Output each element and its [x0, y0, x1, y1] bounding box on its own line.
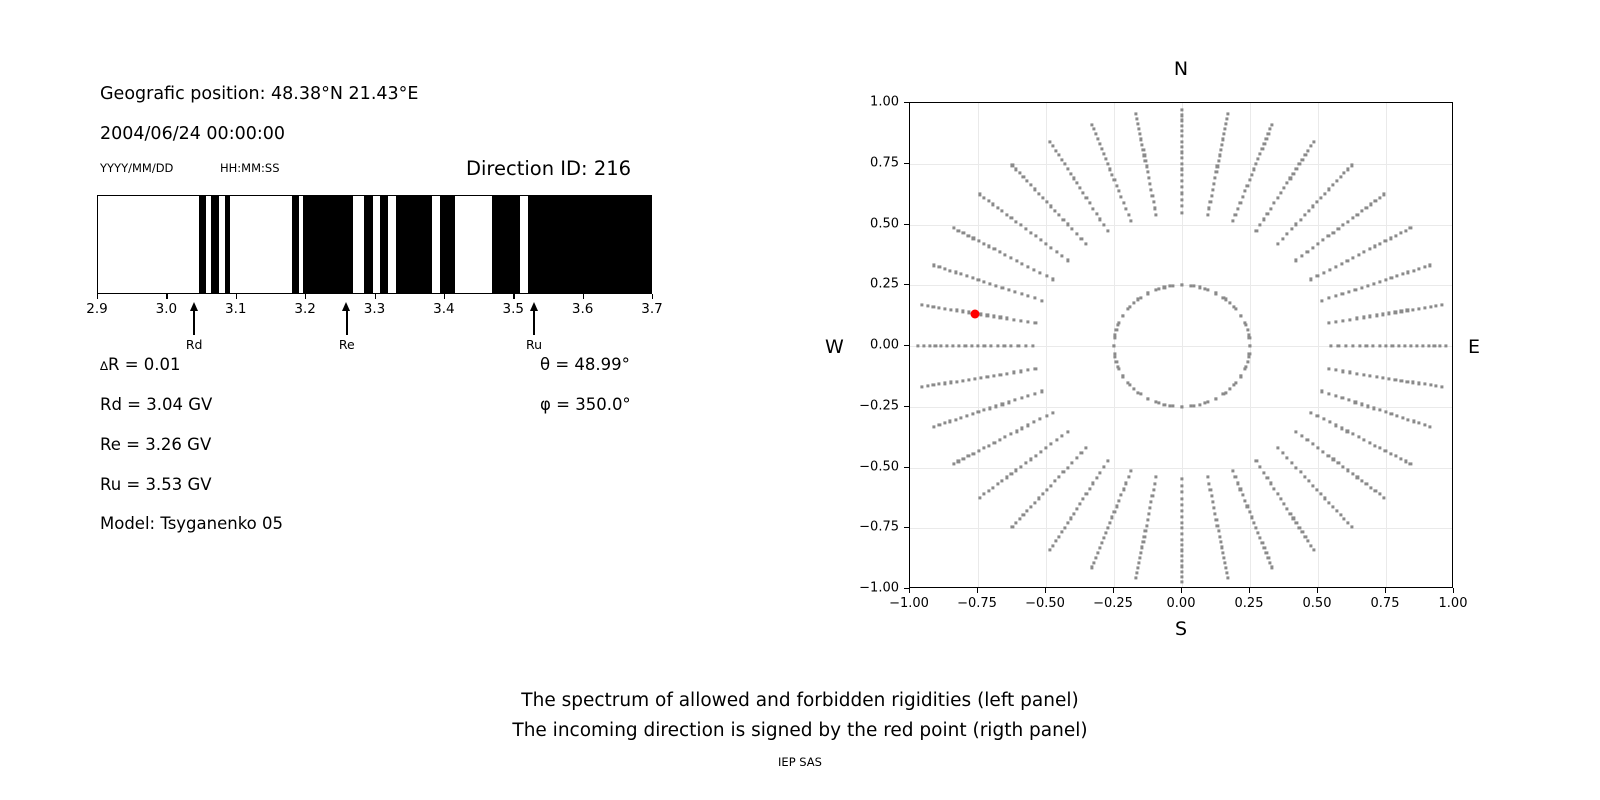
scatter-dot: [1334, 394, 1337, 397]
scatter-dot: [1045, 488, 1048, 491]
scatter-dot: [1265, 137, 1268, 140]
forbidden-band: [380, 196, 388, 293]
scatter-dot: [965, 414, 968, 417]
scatter-dot: [1180, 521, 1183, 524]
scatter-dot: [1009, 256, 1012, 259]
scatter-dot: [1226, 112, 1229, 115]
scatter-dot: [1350, 525, 1353, 528]
scatter-dot: [1346, 220, 1349, 223]
scatter-dot: [1228, 387, 1231, 390]
scatter-dot: [1327, 454, 1330, 457]
scatter-dot: [932, 305, 935, 308]
scatter-dot: [926, 384, 929, 387]
scatter-dot: [1307, 540, 1310, 543]
scatter-dot: [1018, 517, 1021, 520]
scatter-dot: [1180, 145, 1183, 148]
scatter-dot: [1004, 436, 1007, 439]
scatter-dot: [1327, 321, 1330, 324]
scatter-dot: [1400, 379, 1403, 382]
scatter-dot: [1246, 184, 1249, 187]
scatter-dot: [1005, 476, 1008, 479]
scatter-dot: [1061, 255, 1064, 258]
scatter-dot: [938, 306, 941, 309]
scatter-dot: [1012, 371, 1015, 374]
scatter-dot: [1102, 465, 1105, 468]
scatter-dot: [943, 422, 946, 425]
scatter-dot: [1236, 207, 1239, 210]
scatter-dot: [1363, 438, 1366, 441]
scatter-dot: [1113, 510, 1116, 513]
scatter-dot: [1334, 294, 1337, 297]
marker-label: Ru: [526, 337, 542, 352]
scatter-dot: [971, 412, 974, 415]
scatter-dot: [1022, 176, 1025, 179]
scatter-dot: [1005, 317, 1008, 320]
scatter-dot: [1412, 269, 1415, 272]
caption-line-1: The spectrum of allowed and forbidden ri…: [0, 686, 1600, 716]
scatter-dot: [1066, 466, 1069, 469]
y-axis-tick: [904, 406, 909, 407]
scatter-dot: [1147, 513, 1150, 516]
scatter-dot: [1198, 403, 1201, 406]
scatter-dot: [1142, 148, 1145, 151]
scatter-dot: [1180, 565, 1183, 568]
scatter-dot: [1129, 219, 1132, 222]
scatter-dot: [1239, 314, 1242, 317]
scatter-dot: [1085, 492, 1088, 495]
scatter-dot: [1049, 484, 1052, 487]
scatter-dot: [1027, 394, 1030, 397]
scatter-dot: [1010, 344, 1013, 347]
scatter-dot: [1423, 423, 1426, 426]
scatter-dot: [1219, 540, 1222, 543]
scatter-dot: [1320, 196, 1323, 199]
forbidden-band: [199, 196, 206, 293]
scatter-dot: [1290, 228, 1293, 231]
scatter-dot: [1072, 512, 1075, 515]
scatter-dot: [1403, 344, 1406, 347]
scatter-dot: [1322, 271, 1325, 274]
scatter-dot: [1394, 311, 1397, 314]
scatter-dot: [1362, 373, 1365, 376]
incoming-direction-point: [971, 310, 980, 319]
scatter-dot: [992, 315, 995, 318]
scatter-dot: [1294, 430, 1297, 433]
datetime-label: 2004/06/24 00:00:00: [100, 124, 285, 144]
scatter-dot: [1139, 133, 1142, 136]
scatter-dot: [1216, 524, 1219, 527]
scatter-dot: [1120, 494, 1123, 497]
y-axis-tick: [904, 527, 909, 528]
scatter-dot: [1372, 282, 1375, 285]
scatter-dot: [1108, 521, 1111, 524]
scatter-dot: [1384, 239, 1387, 242]
scatter-dot: [1106, 229, 1109, 232]
rigidity-spectrum-panel: Geografic position: 48.38°N 21.43°E 2004…: [0, 0, 700, 660]
scatter-dot: [1132, 301, 1135, 304]
scatter-dot: [1365, 483, 1368, 486]
scatter-dot: [1015, 259, 1018, 262]
scatter-dot: [1355, 317, 1358, 320]
scatter-dot: [1440, 385, 1443, 388]
scatter-dot: [1096, 551, 1099, 554]
scatter-dot: [1317, 446, 1320, 449]
scatter-dot: [1239, 375, 1242, 378]
scatter-dot: [1221, 138, 1224, 141]
scatter-dot: [1155, 213, 1158, 216]
scatter-dot: [1050, 246, 1053, 249]
scatter-dot: [1014, 220, 1017, 223]
scatter-dot: [1143, 535, 1146, 538]
scatter-dot: [1034, 368, 1037, 371]
scatter-dot: [1211, 188, 1214, 191]
scatter-dot: [1180, 129, 1183, 132]
scatter-dot: [1409, 227, 1412, 230]
scatter-dot: [1307, 480, 1310, 483]
forbidden-band: [303, 196, 353, 293]
scatter-dot: [922, 344, 925, 347]
scatter-dot: [1157, 401, 1160, 404]
scatter-dot: [1020, 397, 1023, 400]
scatter-dot: [1404, 460, 1407, 463]
x-axis-tick-label: 0.75: [1371, 596, 1400, 611]
scatter-dot: [1299, 218, 1302, 221]
scatter-dot: [1180, 515, 1183, 518]
scatter-dot: [1316, 488, 1319, 491]
x-axis-tick: [1181, 588, 1182, 593]
rd-value: Rd = 3.04 GV: [100, 395, 212, 414]
scatter-dot: [1255, 229, 1258, 232]
scatter-dot: [1360, 403, 1363, 406]
scatter-dot: [1342, 465, 1345, 468]
scatter-dot: [1282, 187, 1285, 190]
scatter-dot: [928, 344, 931, 347]
scatter-dot: [1154, 401, 1157, 404]
scatter-dot: [1339, 176, 1342, 179]
scatter-dot: [1276, 242, 1279, 245]
scatter-dot: [1113, 178, 1116, 181]
scatter-dot: [1236, 482, 1239, 485]
scatter-dot: [1378, 344, 1381, 347]
scatter-dot: [917, 344, 920, 347]
scatter-dot: [1095, 212, 1098, 215]
scatter-dot: [1224, 122, 1227, 125]
x-axis-tick-label: 1.00: [1439, 596, 1468, 611]
scatter-dot: [1407, 418, 1410, 421]
scatter-dot: [1180, 140, 1183, 143]
scatter-dot: [955, 309, 958, 312]
scatter-dot: [1180, 405, 1183, 408]
scatter-dot: [1324, 497, 1327, 500]
scatter-dot: [1281, 237, 1284, 240]
scatter-dot: [1212, 182, 1215, 185]
scatter-dot: [1135, 112, 1138, 115]
scatter-dot: [1189, 284, 1192, 287]
scatter-dot: [1066, 167, 1069, 170]
scatter-dot: [971, 276, 974, 279]
scatter-dot: [1104, 157, 1107, 160]
scatter-dot: [1334, 320, 1337, 323]
scatter-dot: [1031, 344, 1034, 347]
scatter-dot: [1113, 352, 1116, 355]
scatter-dot: [1209, 200, 1212, 203]
scatter-dot: [1057, 535, 1060, 538]
scatter-dot: [1146, 292, 1149, 295]
scatter-dot: [1255, 163, 1258, 166]
scatter-dot: [1071, 461, 1074, 464]
scatter-dot: [1208, 482, 1211, 485]
scatter-dot: [1289, 512, 1292, 515]
scatter-dot: [1111, 516, 1114, 519]
scatter-dot: [1435, 384, 1438, 387]
scatter-dot: [1394, 234, 1397, 237]
x-axis-tick-label: −0.75: [957, 596, 997, 611]
scatter-dot: [1342, 319, 1345, 322]
x-axis-tick: [977, 588, 978, 593]
scatter-dot: [1320, 390, 1323, 393]
scatter-dot: [983, 344, 986, 347]
scatter-dot: [1208, 207, 1211, 210]
scatter-dot: [1122, 375, 1125, 378]
scatter-dot: [1418, 307, 1421, 310]
scatter-dot: [1265, 551, 1268, 554]
scatter-dot: [1163, 403, 1166, 406]
scatter-dot: [1341, 397, 1344, 400]
scatter-dot: [977, 411, 980, 414]
scatter-dot: [1118, 321, 1121, 324]
scatter-dot: [1033, 268, 1036, 271]
scatter-dot: [1412, 420, 1415, 423]
scatter-dot: [1395, 414, 1398, 417]
scatter-dot: [1053, 209, 1056, 212]
scatter-dot: [1332, 231, 1335, 234]
scatter-dot: [1428, 264, 1431, 267]
scatter-dot: [1001, 286, 1004, 289]
scatter-dot: [1007, 401, 1010, 404]
scatter-dot: [1384, 411, 1387, 414]
scatter-dot: [1292, 172, 1295, 175]
scatter-dot: [1366, 284, 1369, 287]
theta-value: θ = 48.99°: [540, 355, 630, 374]
scatter-dot: [1180, 192, 1183, 195]
scatter-dot: [1374, 489, 1377, 492]
scatter-dot: [1246, 329, 1249, 332]
scatter-dot: [1381, 313, 1384, 316]
scatter-dot: [932, 384, 935, 387]
scatter-dot: [1234, 381, 1237, 384]
scatter-dot: [1218, 535, 1221, 538]
scatter-dot: [1108, 168, 1111, 171]
forbidden-band: [364, 196, 373, 293]
scatter-dot: [1180, 186, 1183, 189]
scatter-dot: [1248, 178, 1251, 181]
scatter-dot: [1100, 147, 1103, 150]
scatter-dot: [982, 242, 985, 245]
scatter-dot: [1026, 509, 1029, 512]
scatter-dot: [1362, 316, 1365, 319]
x-axis-tick-label: −0.50: [1025, 596, 1065, 611]
scatter-dot: [986, 314, 989, 317]
scatter-dot: [1433, 344, 1436, 347]
gridline-vertical: [1318, 103, 1319, 587]
scatter-dot: [1019, 319, 1022, 322]
scatter-dot: [1418, 382, 1421, 385]
scatter-dot: [1222, 556, 1225, 559]
scatter-dot: [1082, 497, 1085, 500]
scatter-dot: [1263, 547, 1266, 550]
scatter-dot: [1066, 430, 1069, 433]
scatter-dot: [1115, 360, 1118, 363]
scatter-dot: [1428, 425, 1431, 428]
scatter-dot: [1346, 469, 1349, 472]
scatter-dot: [1384, 449, 1387, 452]
scatter-dot: [993, 441, 996, 444]
scatter-dot: [1019, 224, 1022, 227]
scatter-dot: [1269, 128, 1272, 131]
scatter-dot: [1298, 163, 1301, 166]
y-axis-tick-label: −1.00: [843, 581, 899, 596]
scatter-dot: [1412, 381, 1415, 384]
scatter-dot: [1122, 488, 1125, 491]
scatter-dot: [1090, 123, 1093, 126]
scatter-dot: [1412, 308, 1415, 311]
scatter-dot: [1346, 259, 1349, 262]
scatter-dot: [1180, 549, 1183, 552]
scatter-dot: [1418, 267, 1421, 270]
scatter-dot: [1115, 505, 1118, 508]
scatter-dot: [943, 267, 946, 270]
scatter-dot: [1365, 344, 1368, 347]
scatter-dot: [961, 310, 964, 313]
forbidden-band: [396, 196, 431, 293]
scatter-dot: [986, 375, 989, 378]
scatter-dot: [1180, 114, 1183, 117]
scatter-dot: [949, 308, 952, 311]
scatter-dot: [1148, 507, 1151, 510]
scatter-dot: [1155, 475, 1158, 478]
scatter-dot: [1117, 190, 1120, 193]
scatter-dot: [1248, 336, 1251, 339]
scatter-dot: [1005, 213, 1008, 216]
scatter-dot: [1122, 314, 1125, 317]
scatter-dot: [1212, 507, 1215, 510]
scatter-dot: [1024, 344, 1027, 347]
scatter-dot: [1136, 117, 1139, 120]
scatter-dot: [1007, 288, 1010, 291]
scatter-dot: [1018, 172, 1021, 175]
scatter-dot: [1075, 456, 1078, 459]
scatter-dot: [1206, 288, 1209, 291]
scatter-dot: [1085, 242, 1088, 245]
scatter-dot: [1180, 560, 1183, 563]
axis-tick: [652, 294, 653, 299]
scatter-dot: [1351, 216, 1354, 219]
scatter-dot: [1241, 494, 1244, 497]
scatter-dot: [960, 416, 963, 419]
scatter-dot: [1327, 368, 1330, 371]
scatter-dot: [1054, 149, 1057, 152]
scatter-dot: [1399, 232, 1402, 235]
scatter-dot: [1429, 305, 1432, 308]
scatter-dot: [1041, 196, 1044, 199]
scatter-dot: [1276, 446, 1279, 449]
forbidden-band: [225, 196, 230, 293]
scatter-dot: [1248, 344, 1251, 347]
scatter-dot: [977, 278, 980, 281]
scatter-dot: [1295, 223, 1298, 226]
scatter-dot: [1365, 206, 1368, 209]
scatter-dot: [962, 457, 965, 460]
scatter-dot: [955, 380, 958, 383]
marker-label: Re: [339, 337, 355, 352]
scatter-dot: [977, 239, 980, 242]
scatter-dot: [978, 496, 981, 499]
scatter-dot: [1051, 145, 1054, 148]
x-axis-tick-label: 0.00: [1167, 596, 1196, 611]
scatter-dot: [1080, 451, 1083, 454]
scatter-dot: [1334, 265, 1337, 268]
scatter-dot: [1243, 499, 1246, 502]
scatter-dot: [1090, 566, 1093, 569]
scatter-dot: [1246, 505, 1249, 508]
scatter-dot: [1044, 446, 1047, 449]
scatter-dot: [1082, 191, 1085, 194]
axis-tick-label: 3.4: [433, 301, 454, 317]
scatter-dot: [995, 284, 998, 287]
scatter-dot: [1266, 477, 1269, 480]
axis-tick: [97, 294, 98, 299]
scatter-dot: [1132, 387, 1135, 390]
scatter-dot: [1211, 501, 1214, 504]
scatter-dot: [1290, 461, 1293, 464]
scatter-dot: [1075, 507, 1078, 510]
geographic-position-label: Geografic position: 48.38°N 21.43°E: [100, 84, 418, 104]
scatter-dot: [1312, 484, 1315, 487]
scatter-dot: [938, 383, 941, 386]
scatter-dot: [1317, 242, 1320, 245]
scatter-dot: [996, 483, 999, 486]
scatter-dot: [1092, 561, 1095, 564]
scatter-dot: [1343, 517, 1346, 520]
ru-value: Ru = 3.53 GV: [100, 475, 212, 494]
x-axis-tick-label: −1.00: [889, 596, 929, 611]
scatter-dot: [1072, 177, 1075, 180]
scatter-dot: [1316, 414, 1319, 417]
scatter-dot: [949, 381, 952, 384]
x-axis-tick: [1113, 588, 1114, 593]
scatter-dot: [1071, 228, 1074, 231]
scatter-dot: [1331, 505, 1334, 508]
scatter-dot: [1307, 209, 1310, 212]
scatter-dot: [1263, 142, 1266, 145]
scatter-dot: [1269, 561, 1272, 564]
scatter-dot: [1000, 479, 1003, 482]
scatter-dot: [1218, 154, 1221, 157]
scatter-dot: [1054, 540, 1057, 543]
scatter-dot: [1085, 446, 1088, 449]
scatter-dot: [1289, 177, 1292, 180]
axis-tick-label: 3.7: [641, 301, 662, 317]
scatter-dot: [1332, 458, 1335, 461]
scatter-dot: [1271, 566, 1274, 569]
scatter-dot: [926, 304, 929, 307]
scatter-dot: [1137, 122, 1140, 125]
scatter-dot: [1214, 397, 1217, 400]
scatter-dot: [1267, 556, 1270, 559]
axis-tick-label: 3.6: [572, 301, 593, 317]
scatter-dot: [993, 248, 996, 251]
scatter-dot: [1276, 492, 1279, 495]
